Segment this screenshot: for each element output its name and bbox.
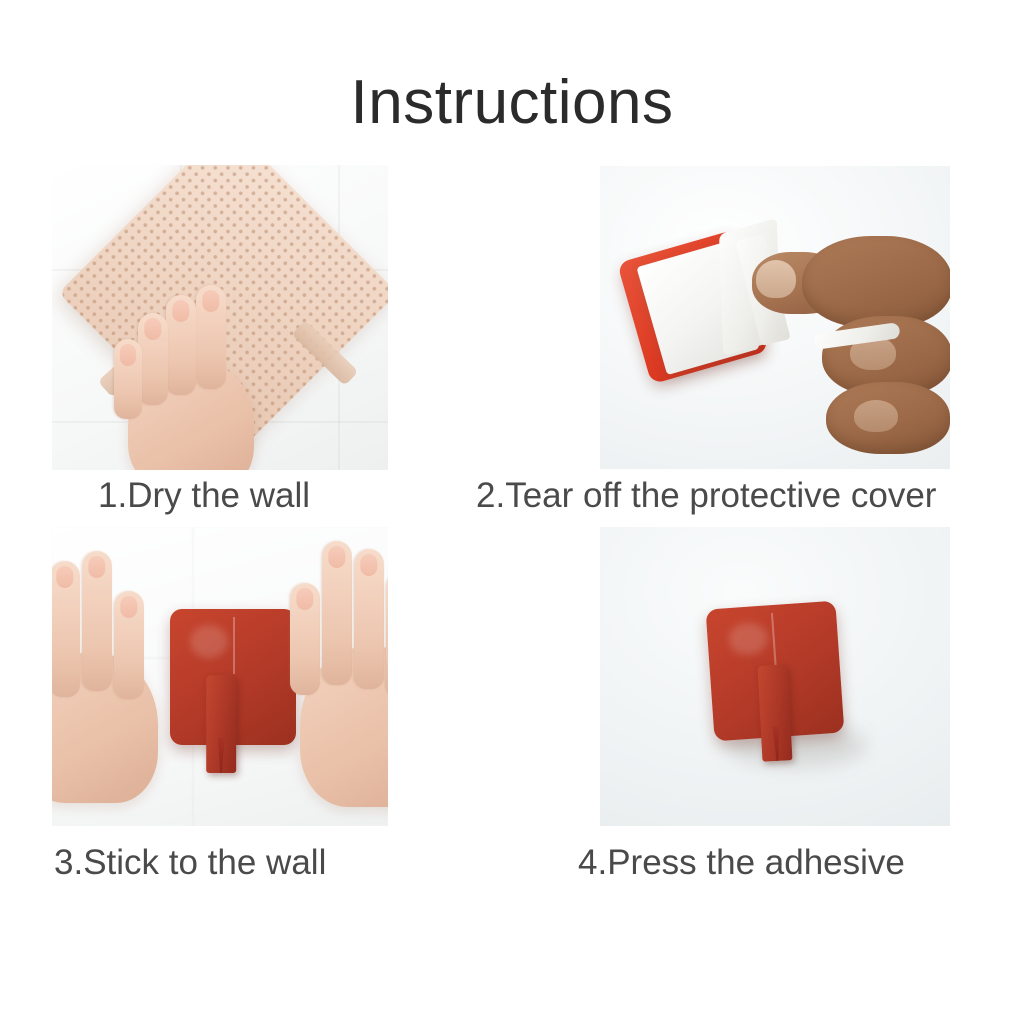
finger-middle — [322, 541, 352, 685]
hand-back — [802, 236, 950, 328]
fingernail — [328, 546, 345, 568]
fingernail — [88, 556, 105, 578]
hook-highlight — [190, 625, 228, 658]
hook-prong — [758, 664, 793, 761]
peeling-hand — [760, 232, 950, 462]
fingernail — [144, 318, 161, 340]
fingernail — [120, 596, 137, 618]
step-1-caption: 1.Dry the wall — [98, 478, 310, 513]
thumbnail — [756, 260, 796, 298]
step-4-photo — [600, 527, 950, 826]
hook-prong-tip — [770, 726, 783, 761]
finger-index — [196, 285, 226, 389]
step-2-caption: 2.Tear off the protective cover — [476, 478, 936, 513]
finger-little — [114, 339, 142, 419]
finger-middle — [166, 295, 196, 395]
left-pressing-hand — [52, 533, 178, 783]
hook-prong-tip — [216, 738, 227, 773]
right-pressing-hand — [274, 527, 388, 777]
hook-prong — [206, 675, 236, 773]
finger-index — [290, 583, 320, 695]
finger-middle — [82, 551, 112, 691]
fingernail — [56, 566, 73, 588]
fingernail — [172, 300, 189, 322]
wiping-hand — [120, 283, 270, 470]
fingernail — [202, 290, 219, 312]
step-1-photo — [52, 165, 388, 470]
hook-seam — [233, 617, 235, 674]
finger-little — [386, 573, 388, 697]
fingernail — [296, 588, 313, 610]
fingernail — [854, 400, 898, 432]
finger-index — [114, 591, 144, 699]
finger-ring — [52, 561, 80, 697]
step-3-caption: 3.Stick to the wall — [54, 845, 326, 880]
page-title: Instructions — [0, 72, 1024, 134]
finger-ring — [138, 313, 168, 405]
fingernail — [120, 344, 136, 366]
step-2-photo — [600, 166, 950, 469]
step-4-caption: 4.Press the adhesive — [578, 845, 905, 880]
step-3-photo — [52, 527, 388, 826]
finger-ring — [354, 549, 384, 689]
fingernail — [360, 554, 377, 576]
